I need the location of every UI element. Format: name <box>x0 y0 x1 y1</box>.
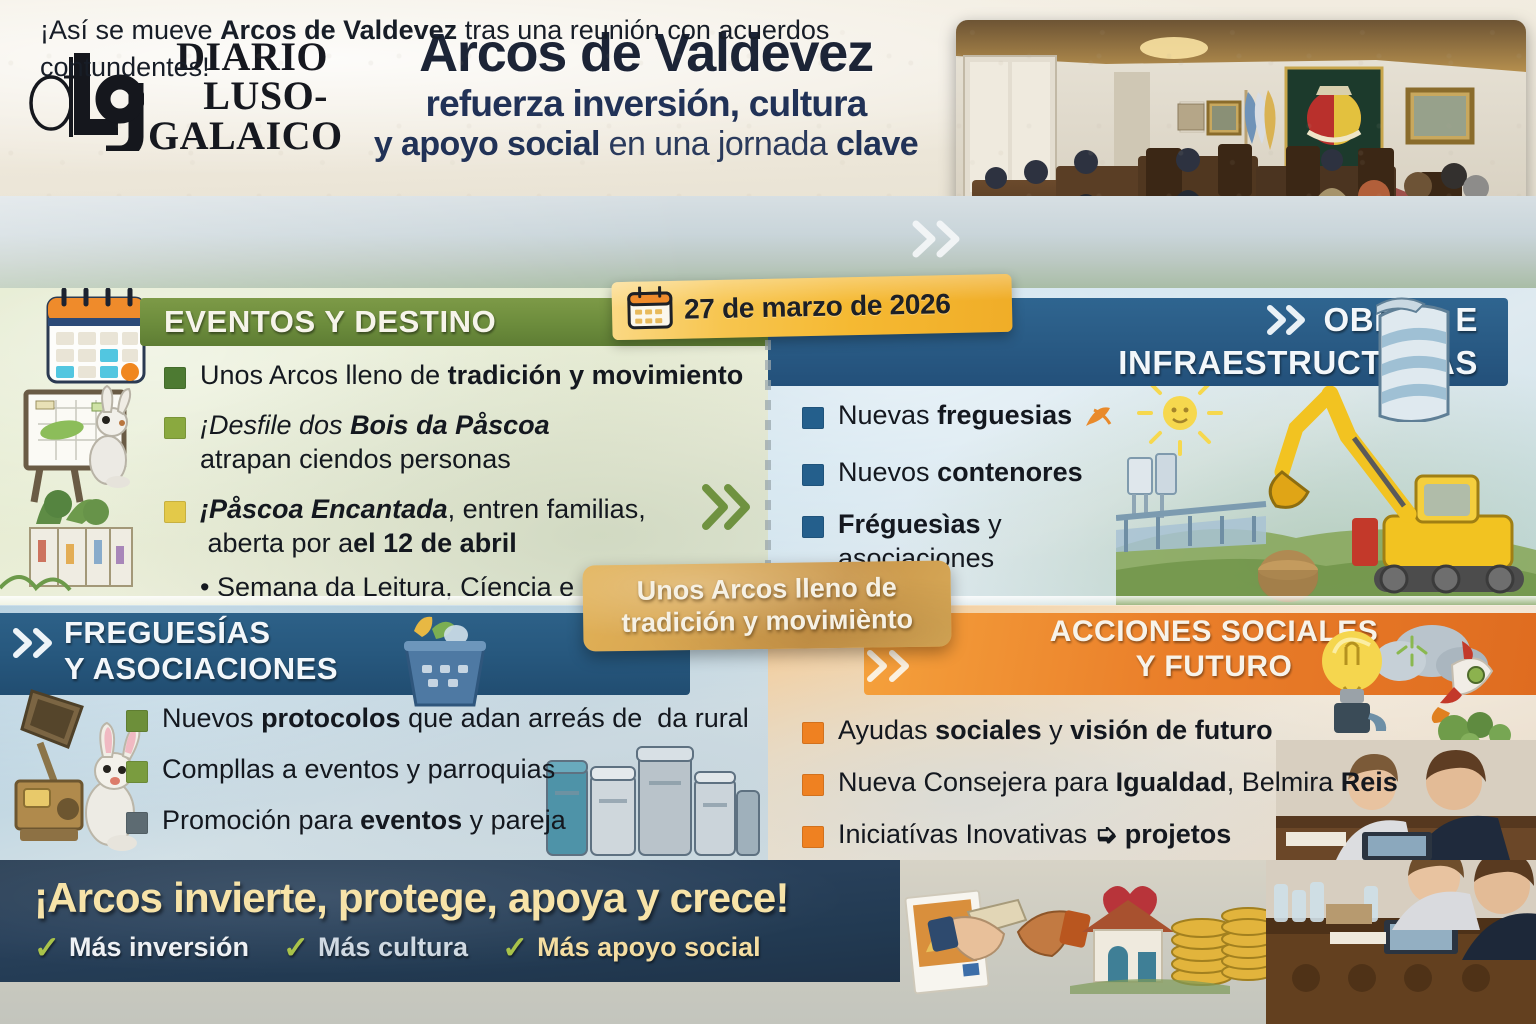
list-item-text: Nueva Consejera para Igualdad, Belmira R… <box>838 765 1398 799</box>
date-text: 27 de marzo de 2026 <box>684 288 951 326</box>
check-icon: ✓ <box>34 932 60 963</box>
double-chevron-right-icon <box>864 647 916 694</box>
list-item-text: Ayudas sociales y visión de futuro <box>838 713 1273 747</box>
headline-bold-a: y apoyo social <box>374 125 600 163</box>
panel-obras-e-infraestructuras: OBRAS E INFRAESTRUCTURAS Nuevas freguesi… <box>768 288 1536 605</box>
bullet-square <box>802 516 824 538</box>
list-item[interactable]: Ayudas sociales y visión de futuro <box>802 713 1502 747</box>
bottom-checklist: ✓ Más inversión ✓ Más cultura ✓ Más apoy… <box>34 932 761 963</box>
bottom-illustration <box>890 860 1290 1024</box>
list-item[interactable]: Promoción para eventos y pareja <box>126 803 766 837</box>
bottom-title: ¡Arcos invierte, protege, apoya y crece! <box>34 874 789 922</box>
headline-thin: en una jornada <box>609 125 827 163</box>
double-chevron-right-icon-eventos <box>698 476 760 543</box>
double-chevron-right-icon <box>1265 303 1311 345</box>
panel-title-eventos: EVENTOS Y DESTINO <box>164 304 496 340</box>
ribbon-cut-icon <box>1082 402 1118 437</box>
list-item-text: Nuevas freguesias <box>838 398 1072 432</box>
list-item[interactable]: ¡Påscoa Encantada, entren familias, aber… <box>164 492 764 560</box>
house-icon <box>1082 900 1174 982</box>
list-item[interactable]: Nuevas freguesias <box>802 398 1132 437</box>
subtitle-text: ¡Así se mueve Arcos de Valdevez tras una… <box>40 12 920 87</box>
calendar-icon <box>626 285 675 335</box>
gramophone-icon <box>16 691 82 841</box>
bullet-square <box>126 710 148 732</box>
bullet-square <box>164 501 186 523</box>
list-item-label: Más apoyo social <box>537 932 761 963</box>
list-item-text: Compllas a eventos y parroquias <box>162 752 555 786</box>
check-icon: ✓ <box>502 932 528 963</box>
subtitle-part-a: ¡Así se mueve <box>40 15 220 45</box>
list-item-text: Nuevos contenores <box>838 455 1083 489</box>
women-at-desk-photo-bottom <box>1266 860 1536 1024</box>
infographic-page: DIARIO LUSO- GALAICO Arcos de Valdevez r… <box>0 0 1536 1024</box>
list-item-text: Nuevos protocolos que adan arreás de da … <box>162 701 749 735</box>
list-item-text: ¡Desfile dos Bois da Påscoaatrapan ciend… <box>200 408 550 476</box>
list-item[interactable]: ¡Desfile dos Bois da Påscoaatrapan ciend… <box>164 408 764 476</box>
calendar-icon <box>48 290 144 382</box>
quote-line-2: tradición y moviміènto <box>621 604 913 640</box>
vertical-dotted-divider <box>765 300 771 590</box>
bullet-square <box>802 464 824 486</box>
bullet-square <box>126 761 148 783</box>
bullet-square <box>164 367 186 389</box>
acciones-bullet-list: Ayudas sociales y visión de futuro Nueva… <box>802 713 1502 851</box>
list-item[interactable]: ✓ Más inversión <box>34 932 249 963</box>
list-item[interactable]: Nuevos contenores <box>802 455 1132 489</box>
subtitle-strip <box>0 196 1536 288</box>
list-item[interactable]: Iniciatívas Inovativas ➭ projetos <box>802 817 1502 851</box>
list-item[interactable]: Compllas a eventos y parroquias <box>126 752 766 786</box>
barrel-icon <box>1258 550 1318 602</box>
bullet-square <box>802 407 824 429</box>
planter-box-icon <box>0 490 132 590</box>
subtitle-part-b: Arcos de Valdevez <box>220 15 457 45</box>
recycling-basket-icon <box>390 613 500 713</box>
quote-text: Unos Arcos lleno de tradición y moviміèn… <box>607 572 927 640</box>
coins-icon <box>1172 908 1274 985</box>
bullet-square <box>802 722 824 744</box>
list-item[interactable]: ✓ Más apoyo social <box>502 932 761 963</box>
silo-icon <box>1376 294 1452 422</box>
headline-line-3: y apoyo social en una jornada clave <box>336 125 956 164</box>
list-item-text: ¡Påscoa Encantada, entren familias, aber… <box>200 492 646 560</box>
list-item[interactable]: Nueva Consejera para Igualdad, Belmira R… <box>802 765 1502 799</box>
obras-bullet-list: Nuevas freguesias Nuevos contenores Frég… <box>802 398 1132 575</box>
list-item-label: Más cultura <box>318 932 468 963</box>
headline-bold-b: clave <box>836 125 918 163</box>
list-item[interactable]: Unos Arcos lleno de tradición y movimien… <box>164 358 764 392</box>
bullet-square <box>802 826 824 848</box>
brand-line-3: GALAICO <box>148 116 328 155</box>
list-item[interactable]: Nuevos protocolos que adan arreás de da … <box>126 701 766 735</box>
date-badge[interactable]: 27 de marzo de 2026 <box>611 274 1012 340</box>
headline-line-2: refuerza inversión, cultura <box>336 83 956 124</box>
list-item-text: Unos Arcos lleno de tradición y movimien… <box>200 358 743 392</box>
bullet-square <box>802 774 824 796</box>
freguesias-bullet-list: Nuevos protocolos que adan arreás de da … <box>126 701 766 837</box>
list-item-label: Más inversión <box>69 932 249 963</box>
bullet-square <box>164 417 186 439</box>
water-tower-icon <box>1128 454 1176 518</box>
list-item-text: Promoción para eventos y pareja <box>162 803 566 837</box>
check-icon: ✓ <box>283 932 309 963</box>
double-chevron-right-icon <box>910 218 968 265</box>
bottom-banner: ¡Arcos invierte, protege, apoya y crece!… <box>0 860 1536 1024</box>
quote-badge: Unos Arcos lleno de tradición y moviміèn… <box>582 560 951 651</box>
bridge-construction-icon <box>1116 504 1266 552</box>
bullet-square <box>126 812 148 834</box>
list-item-text: Iniciatívas Inovativas ➭ projetos <box>838 817 1231 851</box>
eventos-illustration <box>0 288 150 605</box>
double-chevron-right-icon <box>10 625 58 669</box>
quote-line-1: Unos Arcos lleno de <box>621 572 913 608</box>
list-item[interactable]: ✓ Más cultura <box>283 932 468 963</box>
